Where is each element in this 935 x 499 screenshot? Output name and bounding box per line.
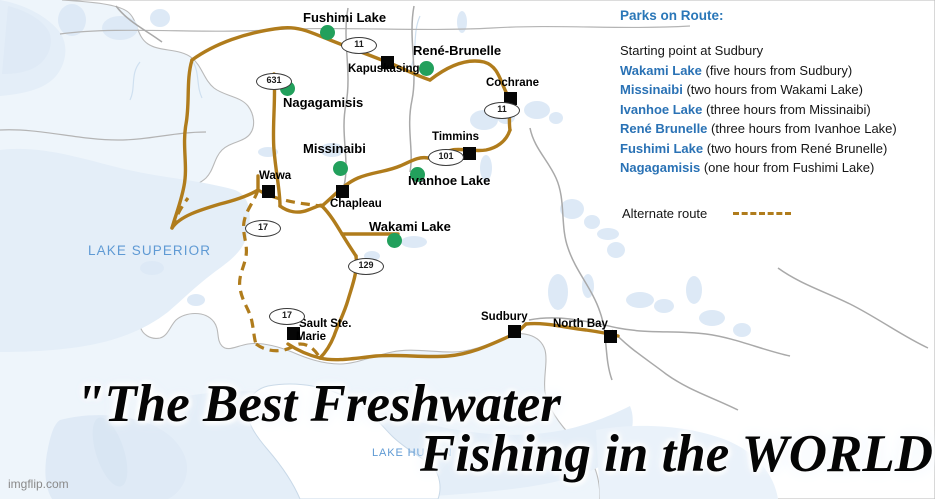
park-marker-wakami-lake [387,233,402,248]
park-label-fushimi-lake: Fushimi Lake [303,11,386,25]
park-label-nagagamisis: Nagagamisis [283,96,363,110]
legend-detail-ivanhoe-lake: (three hours from Missinaibi) [702,102,870,117]
legend-park-missinaibi: Missinaibi [620,82,683,97]
legend-alternate-route: Alternate route [622,206,791,221]
city-label-wawa: Wawa [259,170,291,182]
city-label-sault-ste-marie: Sault Ste. [299,318,351,330]
legend-detail-missinaibi: (two hours from Wakami Lake) [683,82,863,97]
city-label-chapleau: Chapleau [330,198,382,210]
water-label-lake-superior: LAKE SUPERIOR [88,243,211,258]
city-label-kapuskasing: Kapuskasing [348,63,420,75]
city-marker-timmins [463,147,476,160]
highway-shield-129: 129 [348,258,384,275]
legend-detail-fushimi-lake: (two hours from René Brunelle) [703,141,887,156]
legend-park-fushimi-lake: Fushimi Lake [620,141,703,156]
legend-row-wakami-lake: Wakami Lake (five hours from Sudbury) [620,61,932,81]
legend-row-missinaibi: Missinaibi (two hours from Wakami Lake) [620,80,932,100]
city-label-cochrane: Cochrane [486,77,539,89]
legend-panel: Parks on Route: Starting point at Sudbur… [620,8,932,178]
highway-shield-631: 631 [256,73,292,90]
park-label-wakami-lake: Wakami Lake [369,220,451,234]
imgflip-watermark: imgflip.com [8,477,69,491]
city-label-sault-ste-marie-line2: Marie [296,331,326,343]
city-label-sudbury: Sudbury [481,311,528,323]
highway-shield-17-south: 17 [269,308,305,325]
highway-shield-11-south: 11 [484,102,520,119]
legend-title: Parks on Route: [620,8,932,23]
city-marker-chapleau [336,185,349,198]
legend-row-ivanhoe-lake: Ivanhoe Lake (three hours from Missinaib… [620,100,932,120]
park-marker-missinaibi [333,161,348,176]
city-marker-wawa [262,185,275,198]
alternate-route-swatch [733,212,791,215]
city-label-timmins: Timmins [432,131,479,143]
legend-park-rene-brunelle: René Brunelle [620,121,707,136]
park-marker-rene-brunelle [419,61,434,76]
city-marker-sudbury [508,325,521,338]
highway-shield-17-north: 17 [245,220,281,237]
legend-detail-rene-brunelle: (three hours from Ivanhoe Lake) [707,121,896,136]
legend-row-nagagamisis: Nagagamisis (one hour from Fushimi Lake) [620,158,932,178]
legend-park-ivanhoe-lake: Ivanhoe Lake [620,102,702,117]
city-label-north-bay: North Bay [553,318,608,330]
legend-park-nagagamisis: Nagagamisis [620,160,700,175]
park-marker-fushimi-lake [320,25,335,40]
legend-row-start: Starting point at Sudbury [620,41,932,61]
legend-row-fushimi-lake: Fushimi Lake (two hours from René Brunel… [620,139,932,159]
city-marker-north-bay [604,330,617,343]
meme-image: Fushimi Lake Nagagamisis René-Brunelle M… [0,0,935,499]
park-label-missinaibi: Missinaibi [303,142,366,156]
caption-line-2: Fishing in the WORLD" [420,424,935,484]
alternate-route-label: Alternate route [622,206,707,221]
legend-park-wakami-lake: Wakami Lake [620,63,702,78]
legend-row-rene-brunelle: René Brunelle (three hours from Ivanhoe … [620,119,932,139]
legend-detail-nagagamisis: (one hour from Fushimi Lake) [700,160,874,175]
legend-row-start-text: Starting point at Sudbury [620,43,763,58]
park-label-rene-brunelle: René-Brunelle [413,44,501,58]
highway-shield-101: 101 [428,149,464,166]
highway-shield-11-north: 11 [341,37,377,54]
park-label-ivanhoe-lake: Ivanhoe Lake [408,174,490,188]
legend-detail-wakami-lake: (five hours from Sudbury) [702,63,852,78]
